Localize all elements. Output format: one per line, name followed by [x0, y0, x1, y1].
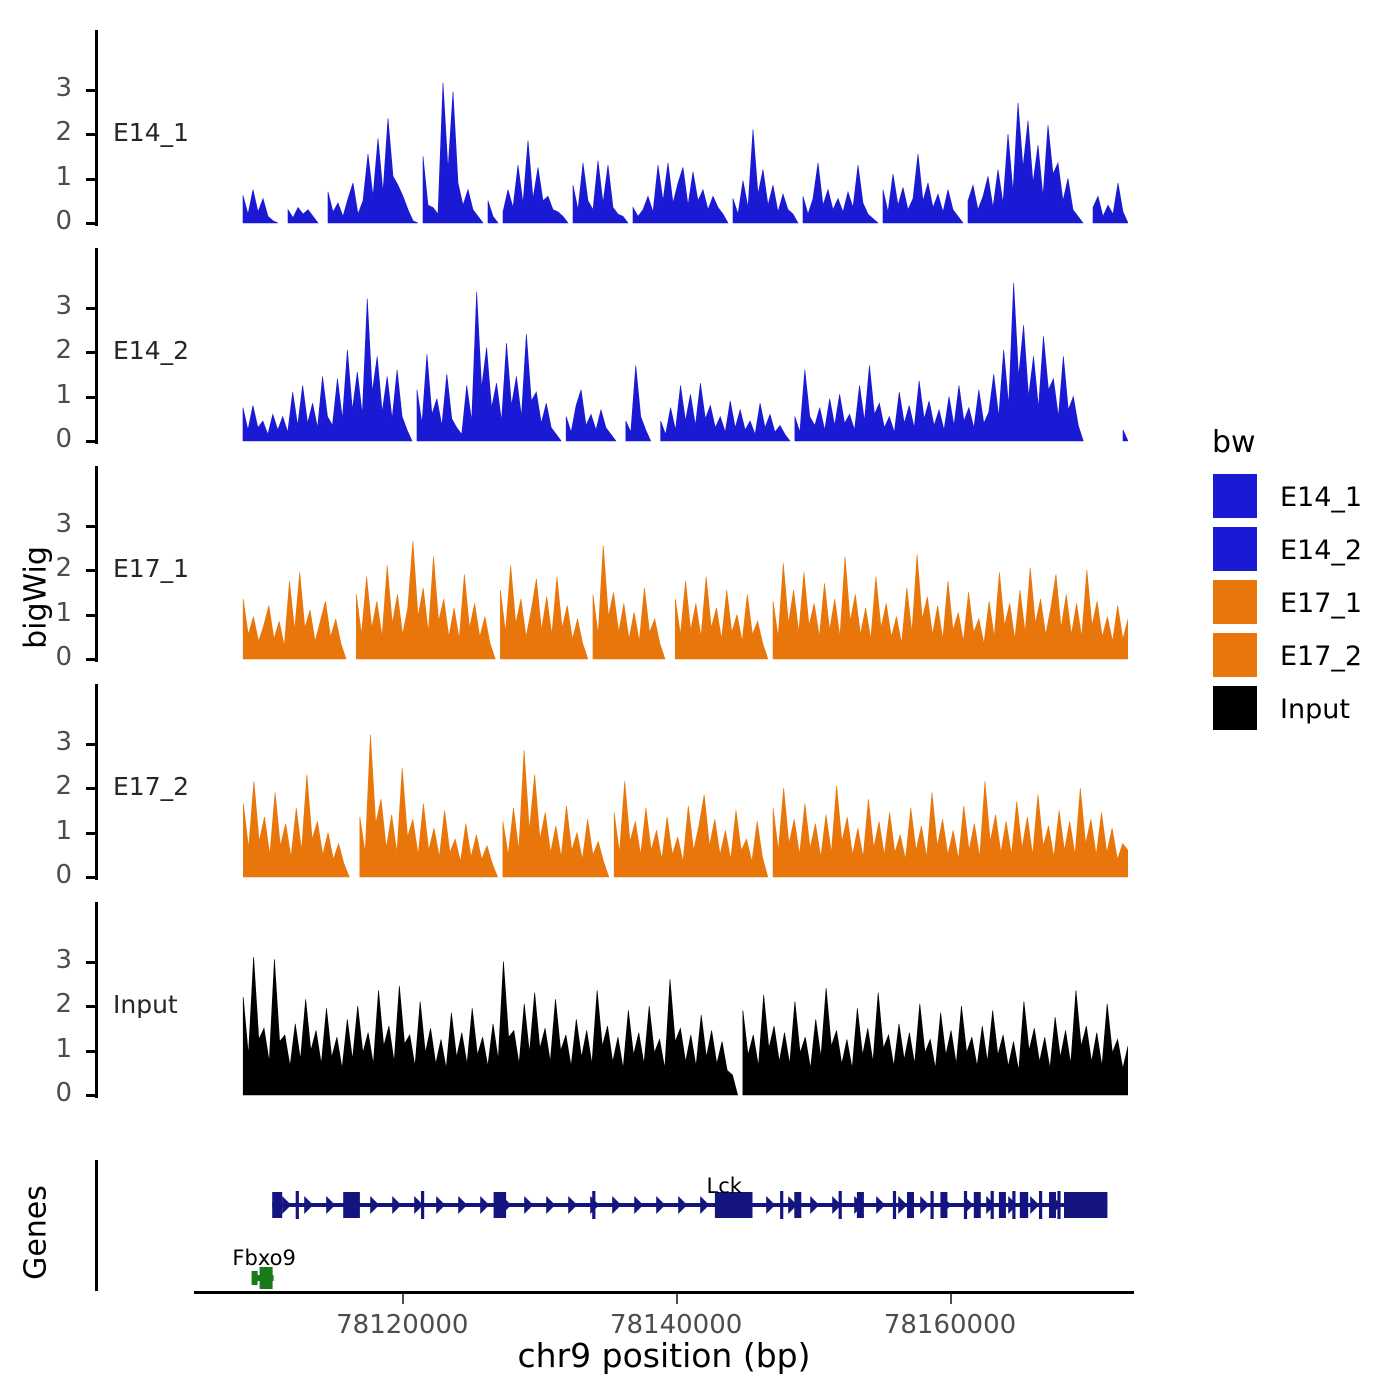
- gene-models: [238, 1160, 1138, 1291]
- y-tick-E14_2-3: [86, 307, 95, 310]
- legend-swatch-E17_2[interactable]: [1212, 632, 1258, 678]
- legend-label-Input: Input: [1280, 694, 1350, 725]
- coverage-area-Input: [238, 902, 1128, 1098]
- y-tick-label-E14_1-1: 1: [10, 162, 72, 192]
- x-tick-78140000: [676, 1294, 678, 1304]
- y-tick-E17_2-2: [86, 787, 95, 790]
- y-tick-E17_2-1: [86, 832, 95, 835]
- y-tick-label-E14_2-3: 3: [10, 291, 72, 321]
- legend-label-E14_2: E14_2: [1280, 535, 1362, 566]
- track-label-E14_1: E14_1: [113, 118, 189, 147]
- y-tick-E17_1-3: [86, 525, 95, 528]
- y-tick-E17_2-3: [86, 743, 95, 746]
- y-tick-label-E14_1-0: 0: [10, 206, 72, 236]
- y-tick-E17_1-2: [86, 569, 95, 572]
- x-tick-78160000: [950, 1294, 952, 1304]
- y-tick-label-E17_1-1: 1: [10, 598, 72, 628]
- legend-label-E17_2: E17_2: [1280, 641, 1362, 672]
- legend-label-E17_1: E17_1: [1280, 588, 1362, 619]
- y-tick-label-E17_2-2: 2: [10, 771, 72, 801]
- y-tick-label-E17_2-0: 0: [10, 860, 72, 890]
- track-label-E17_1: E17_1: [113, 554, 189, 583]
- y-tick-label-Input-0: 0: [10, 1078, 72, 1108]
- y-tick-Input-1: [86, 1050, 95, 1053]
- y-tick-label-Input-1: 1: [10, 1034, 72, 1064]
- y-tick-label-Input-2: 2: [10, 989, 72, 1019]
- legend-swatch-E14_2[interactable]: [1212, 526, 1258, 572]
- y-tick-label-E14_2-1: 1: [10, 380, 72, 410]
- y-tick-label-E17_2-3: 3: [10, 727, 72, 757]
- legend-swatch-E14_1[interactable]: [1212, 473, 1258, 519]
- y-axis-line-E17_2: [95, 684, 98, 880]
- y-axis-title-genes: Genes: [19, 1173, 54, 1293]
- y-tick-E14_1-0: [86, 222, 95, 225]
- track-label-Input: Input: [113, 990, 178, 1019]
- y-tick-Input-3: [86, 961, 95, 964]
- y-axis-line-E14_2: [95, 248, 98, 444]
- y-tick-label-E14_1-2: 2: [10, 117, 72, 147]
- y-axis-line-E14_1: [95, 30, 98, 226]
- coverage-area-E14_1: [238, 30, 1128, 226]
- x-axis-title: chr9 position (bp): [194, 1336, 1134, 1375]
- x-tick-78120000: [402, 1294, 404, 1304]
- gene-label-lck: Lck: [707, 1174, 742, 1198]
- y-tick-label-E17_1-3: 3: [10, 509, 72, 539]
- y-tick-label-E17_2-1: 1: [10, 816, 72, 846]
- genes-axis-line: [95, 1160, 98, 1291]
- coverage-area-E17_2: [238, 684, 1128, 880]
- y-tick-E14_2-0: [86, 440, 95, 443]
- y-tick-label-E14_2-2: 2: [10, 335, 72, 365]
- y-tick-E17_1-1: [86, 614, 95, 617]
- y-tick-Input-0: [86, 1094, 95, 1097]
- track-label-E14_2: E14_2: [113, 336, 189, 365]
- y-axis-line-E17_1: [95, 466, 98, 662]
- legend-swatch-Input[interactable]: [1212, 685, 1258, 731]
- y-tick-label-E17_1-2: 2: [10, 553, 72, 583]
- y-tick-E14_1-2: [86, 133, 95, 136]
- legend-label-E14_1: E14_1: [1280, 482, 1362, 513]
- y-tick-E14_2-1: [86, 396, 95, 399]
- y-tick-label-E14_2-0: 0: [10, 424, 72, 454]
- y-tick-E14_1-1: [86, 178, 95, 181]
- legend-title: bw: [1212, 425, 1256, 460]
- y-axis-line-Input: [95, 902, 98, 1098]
- y-tick-E14_1-3: [86, 89, 95, 92]
- x-axis-line: [194, 1291, 1134, 1294]
- y-tick-label-E17_1-0: 0: [10, 642, 72, 672]
- y-tick-label-Input-3: 3: [10, 945, 72, 975]
- y-tick-E17_2-0: [86, 876, 95, 879]
- y-tick-E14_2-2: [86, 351, 95, 354]
- track-label-E17_2: E17_2: [113, 772, 189, 801]
- legend-swatch-E17_1[interactable]: [1212, 579, 1258, 625]
- gene-label-fbxo9: Fbxo9: [232, 1246, 295, 1270]
- y-tick-E17_1-0: [86, 658, 95, 661]
- y-tick-Input-2: [86, 1005, 95, 1008]
- coverage-area-E14_2: [238, 248, 1128, 444]
- coverage-area-E17_1: [238, 466, 1128, 662]
- y-tick-label-E14_1-3: 3: [10, 73, 72, 103]
